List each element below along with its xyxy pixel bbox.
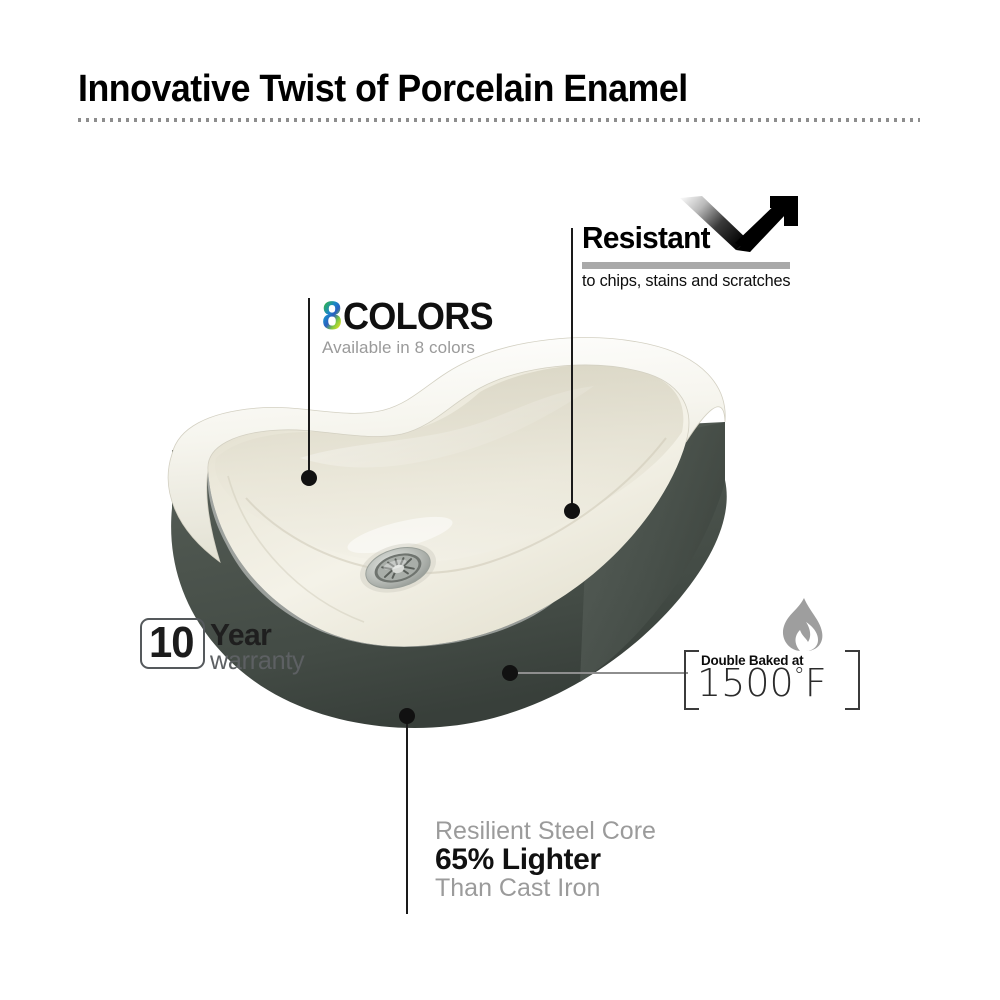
leader-line-colors [308, 298, 310, 478]
steel-core-line3: Than Cast Iron [435, 875, 656, 901]
steel-core-line1: Resilient Steel Core [435, 818, 656, 844]
leader-line-steel-core [406, 718, 408, 914]
leader-line-temperature [514, 672, 688, 674]
steel-core-line2: 65% Lighter [435, 844, 656, 875]
sink-illustration [150, 330, 770, 760]
temperature-bracket-group: Double Baked at 1500°F [684, 650, 860, 706]
warranty-label: warranty [210, 647, 304, 673]
flame-icon [780, 598, 824, 652]
page-title: Innovative Twist of Porcelain Enamel [78, 68, 688, 111]
title-dotted-divider [78, 118, 920, 122]
colors-subtitle: Available in 8 colors [322, 338, 501, 358]
warranty-number: 10 [149, 621, 194, 665]
leader-dot-steel-core [399, 708, 415, 724]
degree-symbol: ° [794, 664, 805, 689]
callout-colors: 8 COLORS Available in 8 colors [322, 296, 501, 358]
warranty-text: Year warranty [210, 619, 307, 673]
temperature-number: 1500 [697, 661, 794, 705]
callout-steel-core: Resilient Steel Core 65% Lighter Than Ca… [435, 818, 656, 901]
colors-word: COLORS [343, 298, 493, 336]
up-right-arrow-icon [678, 196, 798, 258]
leader-dot-temperature [502, 665, 518, 681]
resistant-headline-row: Resistant [582, 222, 797, 260]
infographic-canvas: Innovative Twist of Porcelain Enamel [0, 0, 1000, 1000]
colors-headline: 8 COLORS [322, 296, 501, 336]
resistant-divider-bar [582, 262, 790, 269]
temperature-unit: F [805, 661, 827, 705]
temperature-value: 1500°F [697, 664, 827, 702]
resistant-subtitle: to chips, stains and scratches [582, 271, 790, 291]
leader-dot-resistant [564, 503, 580, 519]
leader-dot-colors [301, 470, 317, 486]
leader-line-resistant [571, 228, 573, 512]
callout-warranty: 10 Year warranty [140, 618, 307, 673]
bracket-right-icon [845, 650, 860, 710]
callout-resistant: Resistant to chips, stains and scratches [582, 222, 797, 260]
colors-count: 8 [322, 296, 342, 336]
warranty-number-box: 10 [140, 618, 205, 669]
